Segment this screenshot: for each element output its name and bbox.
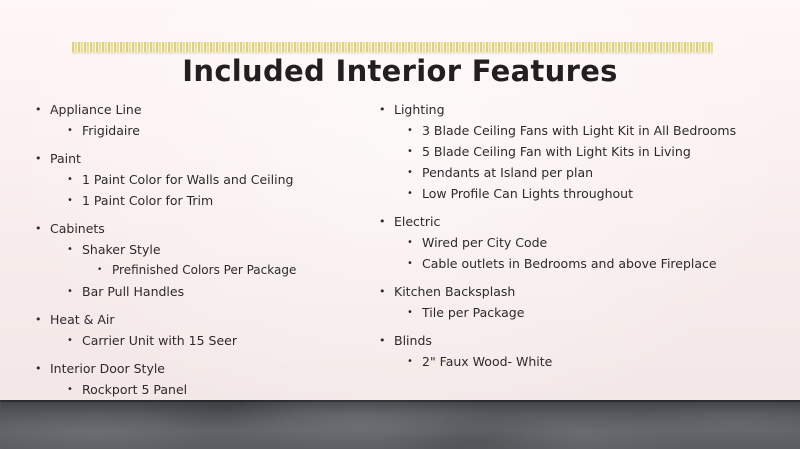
list-item: Electric	[370, 212, 800, 231]
list-item: Heat & Air	[26, 310, 360, 329]
list-item-label: 3 Blade Ceiling Fans with Light Kit in A…	[422, 121, 736, 140]
decorative-striped-bar	[72, 42, 713, 52]
list-item: 1 Paint Color for Trim	[26, 191, 360, 210]
list-item: Paint	[26, 149, 360, 168]
page-title: Included Interior Features	[0, 54, 800, 88]
content-area: Appliance LineFrigidairePaint1 Paint Col…	[0, 100, 800, 385]
list-item: Lighting	[370, 100, 800, 119]
right-bullet-column: Lighting3 Blade Ceiling Fans with Light …	[360, 100, 800, 385]
list-item-label: Appliance Line	[50, 100, 142, 119]
list-item: Blinds	[370, 331, 800, 350]
list-item-label: 1 Paint Color for Trim	[82, 191, 213, 210]
list-item-label: Wired per City Code	[422, 233, 547, 252]
left-bullet-list: Appliance LineFrigidairePaint1 Paint Col…	[26, 100, 360, 420]
list-item-label: Low Profile Can Lights throughout	[422, 184, 633, 203]
list-item-label: Rockport 5 Panel	[82, 380, 187, 399]
list-item-label: Cabinets	[50, 219, 105, 238]
right-bullet-list: Lighting3 Blade Ceiling Fans with Light …	[370, 100, 800, 371]
list-item-label: Interior Door Style	[50, 359, 165, 378]
list-item: Wired per City Code	[370, 233, 800, 252]
list-item-label: Blinds	[394, 331, 432, 350]
list-item: Interior Door Style	[26, 359, 360, 378]
list-item: Appliance Line	[26, 100, 360, 119]
list-item-label: Shaker Style	[82, 240, 161, 259]
list-item: 5 Blade Ceiling Fan with Light Kits in L…	[370, 142, 800, 161]
stone-texture-overlay	[0, 400, 800, 449]
list-item-label: Electric	[394, 212, 440, 231]
photo-strip-edge	[0, 400, 800, 402]
list-item-label: Prefinished Colors Per Package	[112, 261, 296, 280]
list-item: Carrier Unit with 15 Seer	[26, 331, 360, 350]
list-item-label: Kitchen Backsplash	[394, 282, 515, 301]
list-item-label: Lighting	[394, 100, 445, 119]
list-item-label: Carrier Unit with 15 Seer	[82, 331, 237, 350]
list-item-label: Paint	[50, 149, 81, 168]
list-item: Bar Pull Handles	[26, 282, 360, 301]
list-item-label: 2" Faux Wood- White	[422, 352, 552, 371]
list-item: Cabinets	[26, 219, 360, 238]
list-item-label: Cable outlets in Bedrooms and above Fire…	[422, 254, 717, 273]
list-item: Shaker Style	[26, 240, 360, 259]
list-item: Rockport 5 Panel	[26, 380, 360, 399]
list-item: Pendants at Island per plan	[370, 163, 800, 182]
list-item: Tile per Package	[370, 303, 800, 322]
list-item: Low Profile Can Lights throughout	[370, 184, 800, 203]
list-item: 1 Paint Color for Walls and Ceiling	[26, 170, 360, 189]
left-bullet-column: Appliance LineFrigidairePaint1 Paint Col…	[0, 100, 360, 385]
list-item: Prefinished Colors Per Package	[26, 261, 360, 280]
list-item-label: Tile per Package	[422, 303, 524, 322]
list-item: Kitchen Backsplash	[370, 282, 800, 301]
list-item-label: Pendants at Island per plan	[422, 163, 593, 182]
list-item: 2" Faux Wood- White	[370, 352, 800, 371]
list-item: Frigidaire	[26, 121, 360, 140]
slide: Included Interior Features Appliance Lin…	[0, 0, 800, 449]
list-item: 3 Blade Ceiling Fans with Light Kit in A…	[370, 121, 800, 140]
list-item-label: Bar Pull Handles	[82, 282, 184, 301]
list-item-label: 5 Blade Ceiling Fan with Light Kits in L…	[422, 142, 691, 161]
list-item: Cable outlets in Bedrooms and above Fire…	[370, 254, 800, 273]
list-item-label: 1 Paint Color for Walls and Ceiling	[82, 170, 293, 189]
bottom-photo-strip	[0, 400, 800, 449]
list-item-label: Frigidaire	[82, 121, 140, 140]
list-item-label: Heat & Air	[50, 310, 115, 329]
